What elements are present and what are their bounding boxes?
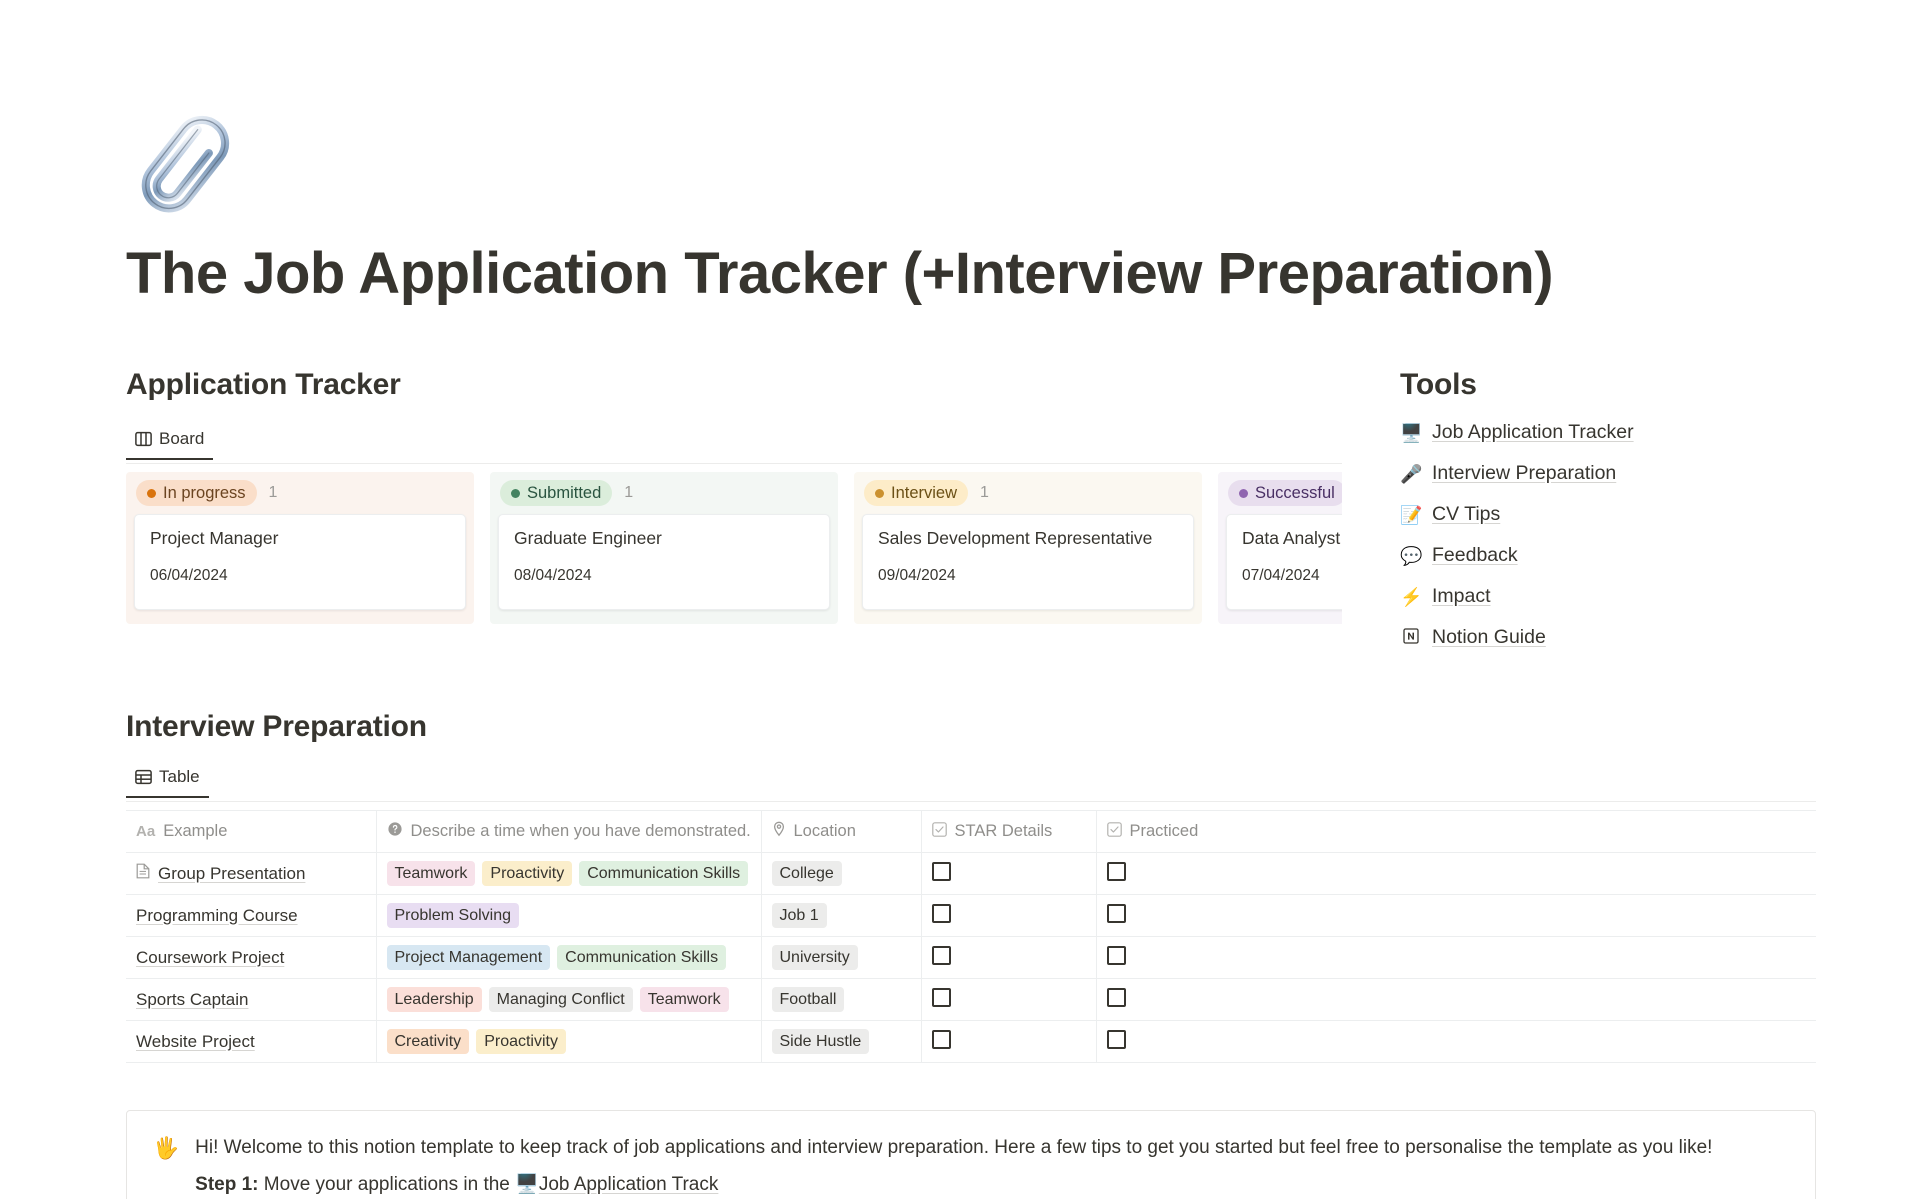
- tool-item-label[interactable]: Notion Guide: [1432, 626, 1546, 649]
- callout-paragraph: Hi! Welcome to this notion template to k…: [195, 1133, 1712, 1164]
- desktop-computer-icon: 🖥️: [515, 1174, 539, 1195]
- raised-hand-icon: 🖐️: [153, 1133, 179, 1199]
- interview-preparation-table: Aa Example: [126, 810, 1816, 1063]
- tool-item-label[interactable]: Interview Preparation: [1432, 462, 1616, 485]
- cell-location[interactable]: Job 1: [761, 895, 921, 937]
- welcome-callout: 🖐️ Hi! Welcome to this notion template t…: [126, 1110, 1816, 1199]
- desktop-computer-icon: 🖥️: [1400, 424, 1422, 442]
- tools-heading: Tools: [1400, 368, 1477, 402]
- board-column-header: Successful: [1218, 472, 1342, 514]
- high-voltage-icon: ⚡: [1400, 588, 1422, 606]
- cell-star-details[interactable]: [921, 895, 1096, 937]
- tab-table-label: Table: [159, 767, 200, 787]
- checkbox-practiced[interactable]: [1107, 988, 1126, 1007]
- cell-example[interactable]: Website Project: [126, 1021, 376, 1063]
- status-badge: In progress: [136, 480, 257, 506]
- checkbox-practiced[interactable]: [1107, 946, 1126, 965]
- cell-example[interactable]: Coursework Project: [126, 937, 376, 979]
- column-count: 1: [269, 484, 278, 502]
- callout-step-label: Step 1:: [195, 1174, 258, 1195]
- board-column[interactable]: Submitted 1 Graduate Engineer 08/04/2024: [490, 472, 838, 624]
- application-tracker-heading: Application Tracker: [126, 368, 401, 402]
- tool-item-job-application-tracker[interactable]: 🖥️ Job Application Tracker: [1400, 412, 1820, 453]
- checkbox-star-details[interactable]: [932, 1030, 951, 1049]
- board-column[interactable]: In progress 1 Project Manager 06/04/2024: [126, 472, 474, 624]
- microphone-icon: 🎤: [1400, 465, 1422, 483]
- tab-board-label: Board: [159, 429, 204, 449]
- tag: Communication Skills: [557, 945, 726, 971]
- cell-skills[interactable]: Leadership Managing Conflict Teamwork: [376, 979, 761, 1021]
- board-card[interactable]: Data Analyst 07/04/2024: [1226, 514, 1342, 610]
- status-label: Interview: [891, 485, 957, 502]
- tool-item-cv-tips[interactable]: 📝 CV Tips: [1400, 494, 1820, 535]
- tag-location: University: [772, 945, 858, 971]
- table-row[interactable]: Website Project Creativity Proactivity S…: [126, 1021, 1816, 1063]
- callout-step-line: Step 1: Move your applications in the 🖥️…: [195, 1170, 1712, 1199]
- tag: Proactivity: [482, 861, 572, 887]
- checkbox-practiced[interactable]: [1107, 1030, 1126, 1049]
- cell-skills[interactable]: Problem Solving: [376, 895, 761, 937]
- board-card-title: Data Analyst: [1242, 528, 1342, 549]
- cell-star-details[interactable]: [921, 979, 1096, 1021]
- cell-practiced[interactable]: [1096, 895, 1816, 937]
- tool-item-feedback[interactable]: 💬 Feedback: [1400, 535, 1820, 576]
- tool-item-label[interactable]: CV Tips: [1432, 503, 1500, 526]
- board-card[interactable]: Sales Development Representative 09/04/2…: [862, 514, 1194, 610]
- checkbox-icon: [932, 822, 947, 842]
- cell-star-details[interactable]: [921, 937, 1096, 979]
- tag-location: College: [772, 861, 842, 887]
- tag: Project Management: [387, 945, 551, 971]
- cell-skills[interactable]: Teamwork Proactivity Communication Skill…: [376, 853, 761, 895]
- board-column-header: Interview 1: [854, 472, 1202, 514]
- title-aa-icon: Aa: [136, 823, 155, 840]
- tool-item-label[interactable]: Feedback: [1432, 544, 1518, 567]
- row-title: Sports Captain: [136, 990, 248, 1010]
- tag: Managing Conflict: [489, 987, 633, 1013]
- cell-example[interactable]: Sports Captain: [126, 979, 376, 1021]
- page-doc-icon: [136, 863, 150, 884]
- column-header-label: Location: [794, 822, 856, 841]
- row-title: Website Project: [136, 1032, 255, 1052]
- table-row[interactable]: Coursework Project Project Management Co…: [126, 937, 1816, 979]
- table-view-tabbar: Table: [126, 762, 1816, 802]
- column-header-label: Describe a time when you have demonstrat…: [411, 822, 751, 841]
- callout-step-link[interactable]: Job Application Track: [539, 1174, 719, 1195]
- cell-example[interactable]: Group Presentation: [126, 853, 376, 895]
- row-title: Coursework Project: [136, 948, 284, 968]
- status-badge: Interview: [864, 480, 968, 506]
- callout-body: Hi! Welcome to this notion template to k…: [195, 1133, 1712, 1199]
- board-column-header: In progress 1: [126, 472, 474, 514]
- tab-board[interactable]: Board: [126, 424, 213, 460]
- tab-table[interactable]: Table: [126, 762, 209, 798]
- tag: Communication Skills: [579, 861, 748, 887]
- checkbox-star-details[interactable]: [932, 904, 951, 923]
- cell-star-details[interactable]: [921, 853, 1096, 895]
- table-row[interactable]: Group Presentation Teamwork Proactivity …: [126, 853, 1816, 895]
- table-row[interactable]: Sports Captain Leadership Managing Confl…: [126, 979, 1816, 1021]
- status-label: Successful: [1255, 485, 1335, 502]
- memo-icon: 📝: [1400, 506, 1422, 524]
- notion-page: The Job Application Tracker (+Interview …: [0, 0, 1920, 1199]
- kanban-board[interactable]: In progress 1 Project Manager 06/04/2024…: [126, 472, 1342, 624]
- status-dot: [1239, 489, 1248, 498]
- status-badge: Successful: [1228, 480, 1342, 506]
- status-dot: [147, 489, 156, 498]
- board-card-title: Project Manager: [150, 528, 450, 549]
- board-card-title: Graduate Engineer: [514, 528, 814, 549]
- cell-practiced[interactable]: [1096, 1021, 1816, 1063]
- paperclip-icon: [126, 108, 242, 224]
- cell-location[interactable]: College: [761, 853, 921, 895]
- board-card[interactable]: Graduate Engineer 08/04/2024: [498, 514, 830, 610]
- board-card-date: 07/04/2024: [1242, 567, 1342, 585]
- column-header-location[interactable]: Location: [761, 811, 921, 853]
- select-pin-icon: [772, 821, 786, 842]
- table-row[interactable]: Programming Course Problem Solving Job 1: [126, 895, 1816, 937]
- status-dot: [875, 489, 884, 498]
- page-title: The Job Application Tracker (+Interview …: [126, 240, 1553, 307]
- status-badge: Submitted: [500, 480, 612, 506]
- tag-location: Job 1: [772, 903, 827, 929]
- row-title: Group Presentation: [158, 864, 305, 884]
- notion-logo-icon: [1400, 628, 1422, 647]
- tool-item-impact[interactable]: ⚡ Impact: [1400, 576, 1820, 617]
- cell-practiced[interactable]: [1096, 937, 1816, 979]
- table-view-icon: [135, 769, 152, 785]
- board-card-title: Sales Development Representative: [878, 528, 1178, 549]
- tag: Problem Solving: [387, 903, 520, 929]
- board-column[interactable]: Interview 1 Sales Development Representa…: [854, 472, 1202, 624]
- tool-item-label[interactable]: Job Application Tracker: [1432, 421, 1634, 444]
- tag: Creativity: [387, 1029, 470, 1055]
- interview-preparation-heading: Interview Preparation: [126, 710, 427, 744]
- row-title: Programming Course: [136, 906, 298, 926]
- table-header-row: Aa Example: [126, 811, 1816, 853]
- status-dot: [511, 489, 520, 498]
- checkbox-practiced[interactable]: [1107, 862, 1126, 881]
- checkbox-star-details[interactable]: [932, 988, 951, 1007]
- status-label: Submitted: [527, 485, 601, 502]
- checkbox-star-details[interactable]: [932, 946, 951, 965]
- cell-skills[interactable]: Creativity Proactivity: [376, 1021, 761, 1063]
- multi-select-icon: [387, 821, 403, 842]
- cell-example[interactable]: Programming Course: [126, 895, 376, 937]
- tools-list: 🖥️ Job Application Tracker 🎤 Interview P…: [1400, 412, 1820, 658]
- checkbox-icon: [1107, 822, 1122, 842]
- column-header-label: STAR Details: [955, 822, 1053, 841]
- board-card-date: 06/04/2024: [150, 567, 450, 585]
- column-header-practiced[interactable]: Practiced: [1096, 811, 1816, 853]
- cell-location[interactable]: Football: [761, 979, 921, 1021]
- board-card-date: 09/04/2024: [878, 567, 1178, 585]
- board-card[interactable]: Project Manager 06/04/2024: [134, 514, 466, 610]
- tag-location: Football: [772, 987, 845, 1013]
- column-header-example[interactable]: Aa Example: [126, 811, 376, 853]
- cell-star-details[interactable]: [921, 1021, 1096, 1063]
- tag: Leadership: [387, 987, 482, 1013]
- tool-item-label[interactable]: Impact: [1432, 585, 1491, 608]
- column-count: 1: [624, 484, 633, 502]
- cell-practiced[interactable]: [1096, 853, 1816, 895]
- tag: Teamwork: [387, 861, 476, 887]
- cell-skills[interactable]: Project Management Communication Skills: [376, 937, 761, 979]
- cell-practiced[interactable]: [1096, 979, 1816, 1021]
- board-column[interactable]: Successful Data Analyst 07/04/2024: [1218, 472, 1342, 624]
- tool-item-notion-guide[interactable]: Notion Guide: [1400, 617, 1820, 658]
- tag: Proactivity: [476, 1029, 566, 1055]
- status-label: In progress: [163, 485, 246, 502]
- tag: Teamwork: [640, 987, 729, 1013]
- column-count: 1: [980, 484, 989, 502]
- cell-location[interactable]: Side Hustle: [761, 1021, 921, 1063]
- board-column-header: Submitted 1: [490, 472, 838, 514]
- tabbar-divider: [126, 463, 1342, 464]
- callout-step-text: Move your applications in the: [259, 1174, 516, 1195]
- board-card-date: 08/04/2024: [514, 567, 814, 585]
- tag-location: Side Hustle: [772, 1029, 870, 1055]
- board-view-tabbar: Board: [126, 424, 1342, 464]
- column-header-label: Example: [163, 822, 227, 841]
- speech-balloon-icon: 💬: [1400, 547, 1422, 565]
- tabbar-divider: [126, 801, 1816, 802]
- column-header-describe[interactable]: Describe a time when you have demonstrat…: [376, 811, 761, 853]
- checkbox-practiced[interactable]: [1107, 904, 1126, 923]
- board-view-icon: [135, 431, 152, 447]
- cell-location[interactable]: University: [761, 937, 921, 979]
- column-header-label: Practiced: [1130, 822, 1199, 841]
- column-header-star-details[interactable]: STAR Details: [921, 811, 1096, 853]
- checkbox-star-details[interactable]: [932, 862, 951, 881]
- tool-item-interview-preparation[interactable]: 🎤 Interview Preparation: [1400, 453, 1820, 494]
